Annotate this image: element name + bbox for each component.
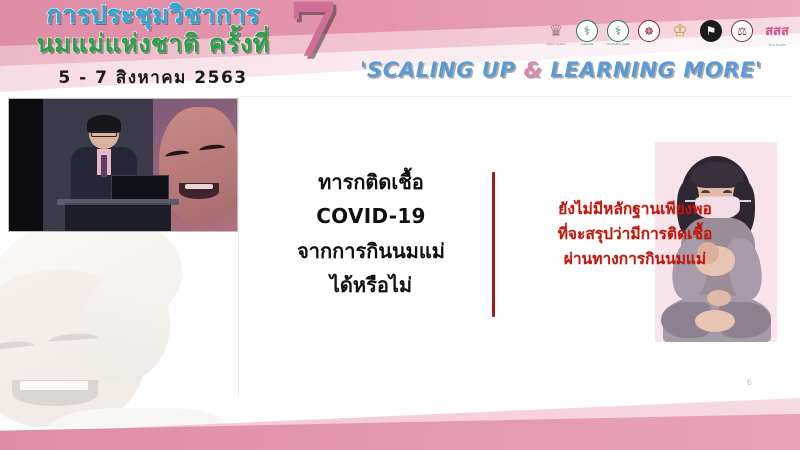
mother-hand bbox=[707, 290, 731, 306]
answer-line-1: ยังไม่มีหลักฐานเพียงพอ bbox=[500, 197, 770, 222]
logo-caption-8: Thai Health bbox=[768, 43, 785, 47]
projected-baby-teeth bbox=[185, 184, 213, 189]
podium-body bbox=[65, 203, 171, 231]
question-line-3: จากการกินนมแม่ bbox=[258, 234, 484, 268]
mother-eye-right bbox=[723, 190, 732, 193]
question-line-4: ได้หรือไม่ bbox=[258, 268, 484, 302]
question-line-1: ทารกติดเชื้อ bbox=[258, 165, 484, 199]
ministry-of-public-health-logo-icon: ⚕ กรมอนามัย bbox=[574, 20, 600, 50]
mother-foot bbox=[695, 310, 735, 332]
royal-college-emblem-icon: ♔ bbox=[667, 20, 693, 50]
logo-caption-2: กรมอนามัย bbox=[581, 43, 594, 47]
presentation-slide: การประชุมวิชาการ นมแม่แห่งชาติ ครั้งที่ … bbox=[0, 0, 800, 450]
thai-breastfeeding-center-logo-icon: ☸ bbox=[636, 20, 662, 50]
logo-mark-5: ♔ bbox=[669, 20, 691, 42]
conference-edition-number: 7 bbox=[288, 0, 340, 68]
baby-teeth bbox=[20, 381, 88, 390]
tagline-part-before: 'SCALING UP bbox=[360, 58, 524, 82]
vertical-divider bbox=[492, 172, 495, 317]
conference-date: 5 - 7 สิงหาคม 2563 bbox=[18, 64, 288, 91]
speaker-video-thumbnail[interactable] bbox=[9, 99, 237, 231]
question-text-block: ทารกติดเชื้อ COVID-19 จากการกินนมแม่ ได้… bbox=[258, 165, 484, 303]
department-of-health-logo-icon: ⚕ กระทรวงสาธารณสุข bbox=[605, 20, 631, 50]
conference-tagline: 'SCALING UP & LEARNING MORE' bbox=[360, 58, 762, 82]
conference-title-line2: นมแม่แห่งชาติ ครั้งที่ bbox=[18, 31, 288, 57]
national-health-foundation-logo-icon: ⚑ bbox=[698, 20, 724, 50]
mother-eye-left bbox=[701, 190, 710, 193]
answer-text-block: ยังไม่มีหลักฐานเพียงพอ ที่จะสรุปว่ามีการ… bbox=[500, 197, 770, 272]
logo-mark-8: สสส bbox=[766, 20, 788, 42]
logo-caption-1: ในพระราชูปถัมภ์ bbox=[547, 43, 566, 47]
logo-mark-1: ♛ bbox=[545, 20, 567, 42]
logo-mark-4: ☸ bbox=[638, 20, 660, 42]
logo-mark-2: ⚕ bbox=[576, 20, 598, 42]
sponsor-logo-row: ♛ ในพระราชูปถัมภ์ ⚕ กรมอนามัย ⚕ กระทรวงส… bbox=[543, 20, 794, 50]
answer-line-2: ที่จะสรุปว่ามีการติดเชื้อ bbox=[500, 222, 770, 247]
logo-mark-3: ⚕ bbox=[607, 20, 629, 42]
logo-caption-3: กระทรวงสาธารณสุข bbox=[606, 43, 629, 47]
conference-title-block: การประชุมวิชาการ นมแม่แห่งชาติ ครั้งที่ … bbox=[18, 2, 288, 91]
stage-wall-left bbox=[9, 99, 43, 231]
answer-line-3: ผ่านทางการกินนมแม่ bbox=[500, 247, 770, 272]
question-line-2: COVID-19 bbox=[258, 199, 484, 233]
pediatric-society-logo-icon: ⚖ bbox=[729, 20, 755, 50]
logo-mark-6: ⚑ bbox=[700, 20, 722, 42]
logo-mark-7: ⚖ bbox=[731, 20, 753, 42]
tagline-ampersand: & bbox=[524, 58, 543, 82]
speaker-glasses-icon bbox=[91, 131, 117, 137]
background-baby-photo bbox=[0, 222, 251, 427]
page-number: 6 bbox=[747, 378, 752, 387]
tagline-part-after: LEARNING MORE' bbox=[542, 58, 762, 82]
speaker-tie bbox=[101, 155, 107, 177]
conference-title-line1: การประชุมวิชาการ bbox=[18, 2, 288, 28]
royal-patronage-emblem-icon: ♛ ในพระราชูปถัมภ์ bbox=[543, 20, 569, 50]
thai-health-sss-logo-icon: สสส Thai Health bbox=[760, 20, 794, 50]
